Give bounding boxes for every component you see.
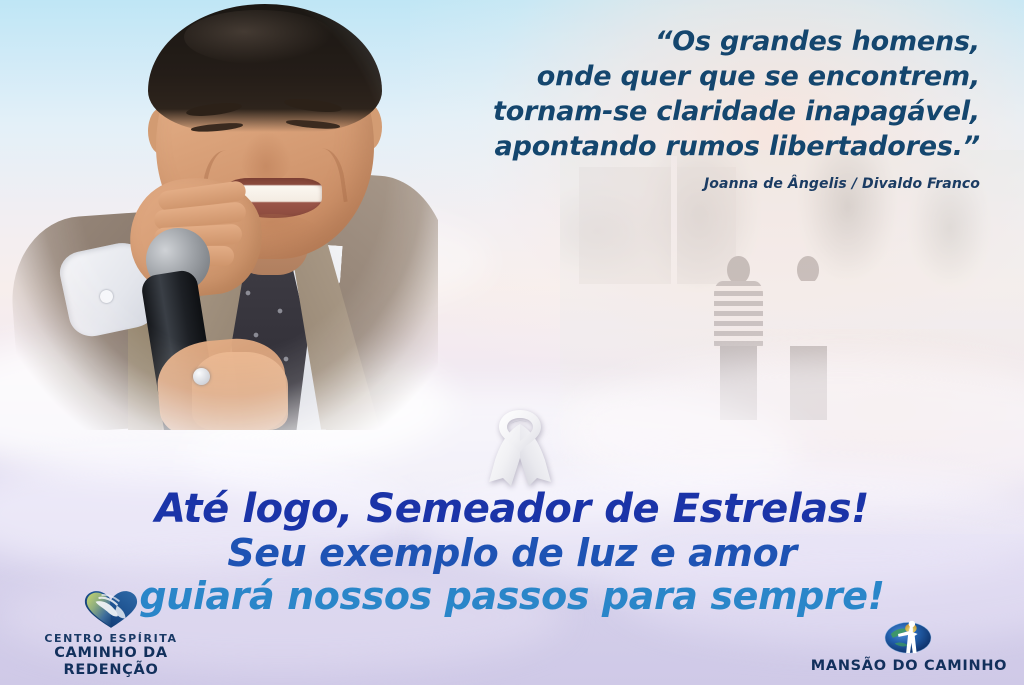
logo-left-line-1: CENTRO ESPÍRITA xyxy=(6,632,216,645)
quote-block: “Os grandes homens, onde quer que se enc… xyxy=(420,24,980,192)
background-figure-white-shirt xyxy=(783,256,834,418)
quote-line-2: onde quer que se encontrem, xyxy=(420,59,980,94)
quote-line-4: apontando rumos libertadores.” xyxy=(420,129,980,164)
white-awareness-ribbon-icon xyxy=(487,408,553,486)
quote-attribution: Joanna de Ângelis / Divaldo Franco xyxy=(420,176,980,192)
logo-centro-espirita-caminho-da-redencao: CENTRO ESPÍRITA CAMINHO DA REDENÇÃO xyxy=(6,590,216,679)
globe-figure-flame-icon xyxy=(883,613,935,655)
memorial-poster: “Os grandes homens, onde quer que se enc… xyxy=(0,0,1024,685)
logo-mansao-do-caminho: MANSÃO DO CAMINHO xyxy=(804,613,1014,675)
headline-line-1: Até logo, Semeador de Estrelas! xyxy=(0,487,1024,532)
logo-right-line-1: MANSÃO DO CAMINHO xyxy=(804,658,1014,675)
logo-left-line-2: CAMINHO DA REDENÇÃO xyxy=(6,645,216,679)
quote-line-1: “Os grandes homens, xyxy=(420,24,980,59)
ring xyxy=(193,368,210,385)
faded-photo-two-people-walking xyxy=(560,150,1024,430)
background-figure-striped-shirt xyxy=(713,256,764,418)
heart-hands-icon xyxy=(82,590,140,629)
headline-line-2: Seu exemplo de luz e amor xyxy=(0,532,1024,575)
portrait-smiling-man-with-microphone xyxy=(8,0,438,430)
quote-line-3: tornam-se claridade inapagável, xyxy=(420,94,980,129)
